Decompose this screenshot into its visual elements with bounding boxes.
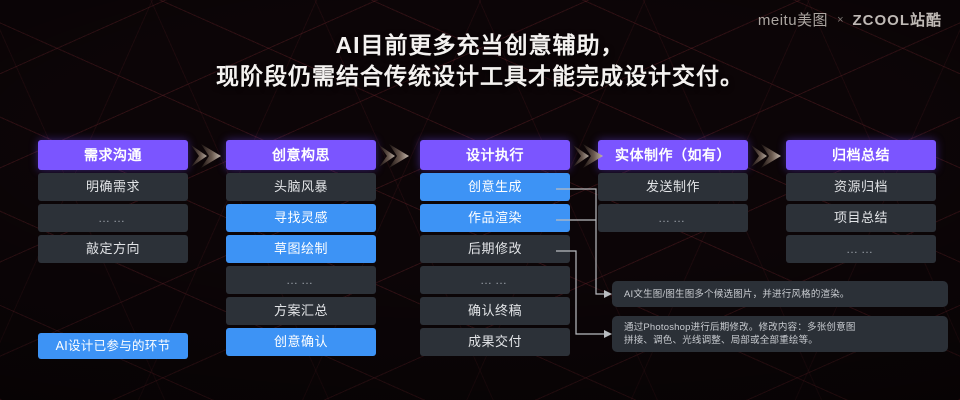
flow-cell-3-6[interactable]: 成果交付 xyxy=(420,328,570,356)
callout-1-line-1: AI文生图/图生图多个候选图片，并进行风格的渲染。 xyxy=(624,288,850,301)
page-title: AI目前更多充当创意辅助， 现阶段仍需结合传统设计工具才能完成设计交付。 xyxy=(0,30,960,92)
column-header-3[interactable]: 设计执行 xyxy=(420,140,570,170)
flow-cell-4-1[interactable]: 发送制作 xyxy=(598,173,748,201)
title-line-2: 现阶段仍需结合传统设计工具才能完成设计交付。 xyxy=(0,61,960,92)
connector-arrowhead-1 xyxy=(604,290,612,298)
flow-cell-4-2[interactable]: …… xyxy=(598,204,748,232)
slide-stage: meitu美图 × ZCOOL站酷 AI目前更多充当创意辅助， 现阶段仍需结合传… xyxy=(0,0,960,400)
flow-cell-2-6[interactable]: 创意确认 xyxy=(226,328,376,356)
flow-cell-3-5[interactable]: 确认终稿 xyxy=(420,297,570,325)
column-header-5[interactable]: 归档总结 xyxy=(786,140,936,170)
column-header-4[interactable]: 实体制作（如有） xyxy=(598,140,748,170)
flow-column-3: 设计执行创意生成作品渲染后期修改……确认终稿成果交付 xyxy=(420,140,570,356)
flow-cell-3-3[interactable]: 后期修改 xyxy=(420,235,570,263)
zcool-logo-text: ZCOOL站酷 xyxy=(853,9,943,30)
connector-arrowhead-2 xyxy=(604,330,612,338)
column-header-1[interactable]: 需求沟通 xyxy=(38,140,188,170)
flow-cell-2-2[interactable]: 寻找灵感 xyxy=(226,204,376,232)
brand-logo-bar: meitu美图 × ZCOOL站酷 xyxy=(758,9,942,30)
flow-cell-1-3[interactable]: 敲定方向 xyxy=(38,235,188,263)
flow-cell-2-1[interactable]: 头脑风暴 xyxy=(226,173,376,201)
flow-cell-2-4[interactable]: …… xyxy=(226,266,376,294)
flow-cell-2-5[interactable]: 方案汇总 xyxy=(226,297,376,325)
callout-ai-generation: AI文生图/图生图多个候选图片，并进行风格的渲染。 xyxy=(612,281,948,307)
brand-separator-icon: × xyxy=(837,14,843,26)
flow-column-4: 实体制作（如有）发送制作…… xyxy=(598,140,748,232)
flow-cell-3-4[interactable]: …… xyxy=(420,266,570,294)
flow-cell-5-3[interactable]: …… xyxy=(786,235,936,263)
callout-photoshop-retouch: 通过Photoshop进行后期修改。修改内容：多张创意图 拼接、调色、光线调整、… xyxy=(612,316,948,352)
callout-2-line-1: 通过Photoshop进行后期修改。修改内容：多张创意图 xyxy=(624,321,936,334)
flow-cell-3-1[interactable]: 创意生成 xyxy=(420,173,570,201)
flow-cell-3-2[interactable]: 作品渲染 xyxy=(420,204,570,232)
flow-cell-5-1[interactable]: 资源归档 xyxy=(786,173,936,201)
legend-ai-involved: AI设计已参与的环节 xyxy=(38,333,188,359)
flow-cell-1-1[interactable]: 明确需求 xyxy=(38,173,188,201)
meitu-logo-text: meitu美图 xyxy=(758,9,828,30)
flow-cell-2-3[interactable]: 草图绘制 xyxy=(226,235,376,263)
stage-arrow-1 xyxy=(189,141,223,171)
flow-column-5: 归档总结资源归档项目总结…… xyxy=(786,140,936,263)
flow-column-1: 需求沟通明确需求……敲定方向 xyxy=(38,140,188,263)
column-header-2[interactable]: 创意构思 xyxy=(226,140,376,170)
callout-2-line-2: 拼接、调色、光线调整、局部或全部重绘等。 xyxy=(624,334,936,347)
stage-arrow-4 xyxy=(749,141,783,171)
flow-cell-1-2[interactable]: …… xyxy=(38,204,188,232)
flow-cell-5-2[interactable]: 项目总结 xyxy=(786,204,936,232)
stage-arrow-2 xyxy=(377,141,411,171)
title-line-1: AI目前更多充当创意辅助， xyxy=(0,30,960,61)
flow-column-2: 创意构思头脑风暴寻找灵感草图绘制……方案汇总创意确认 xyxy=(226,140,376,356)
